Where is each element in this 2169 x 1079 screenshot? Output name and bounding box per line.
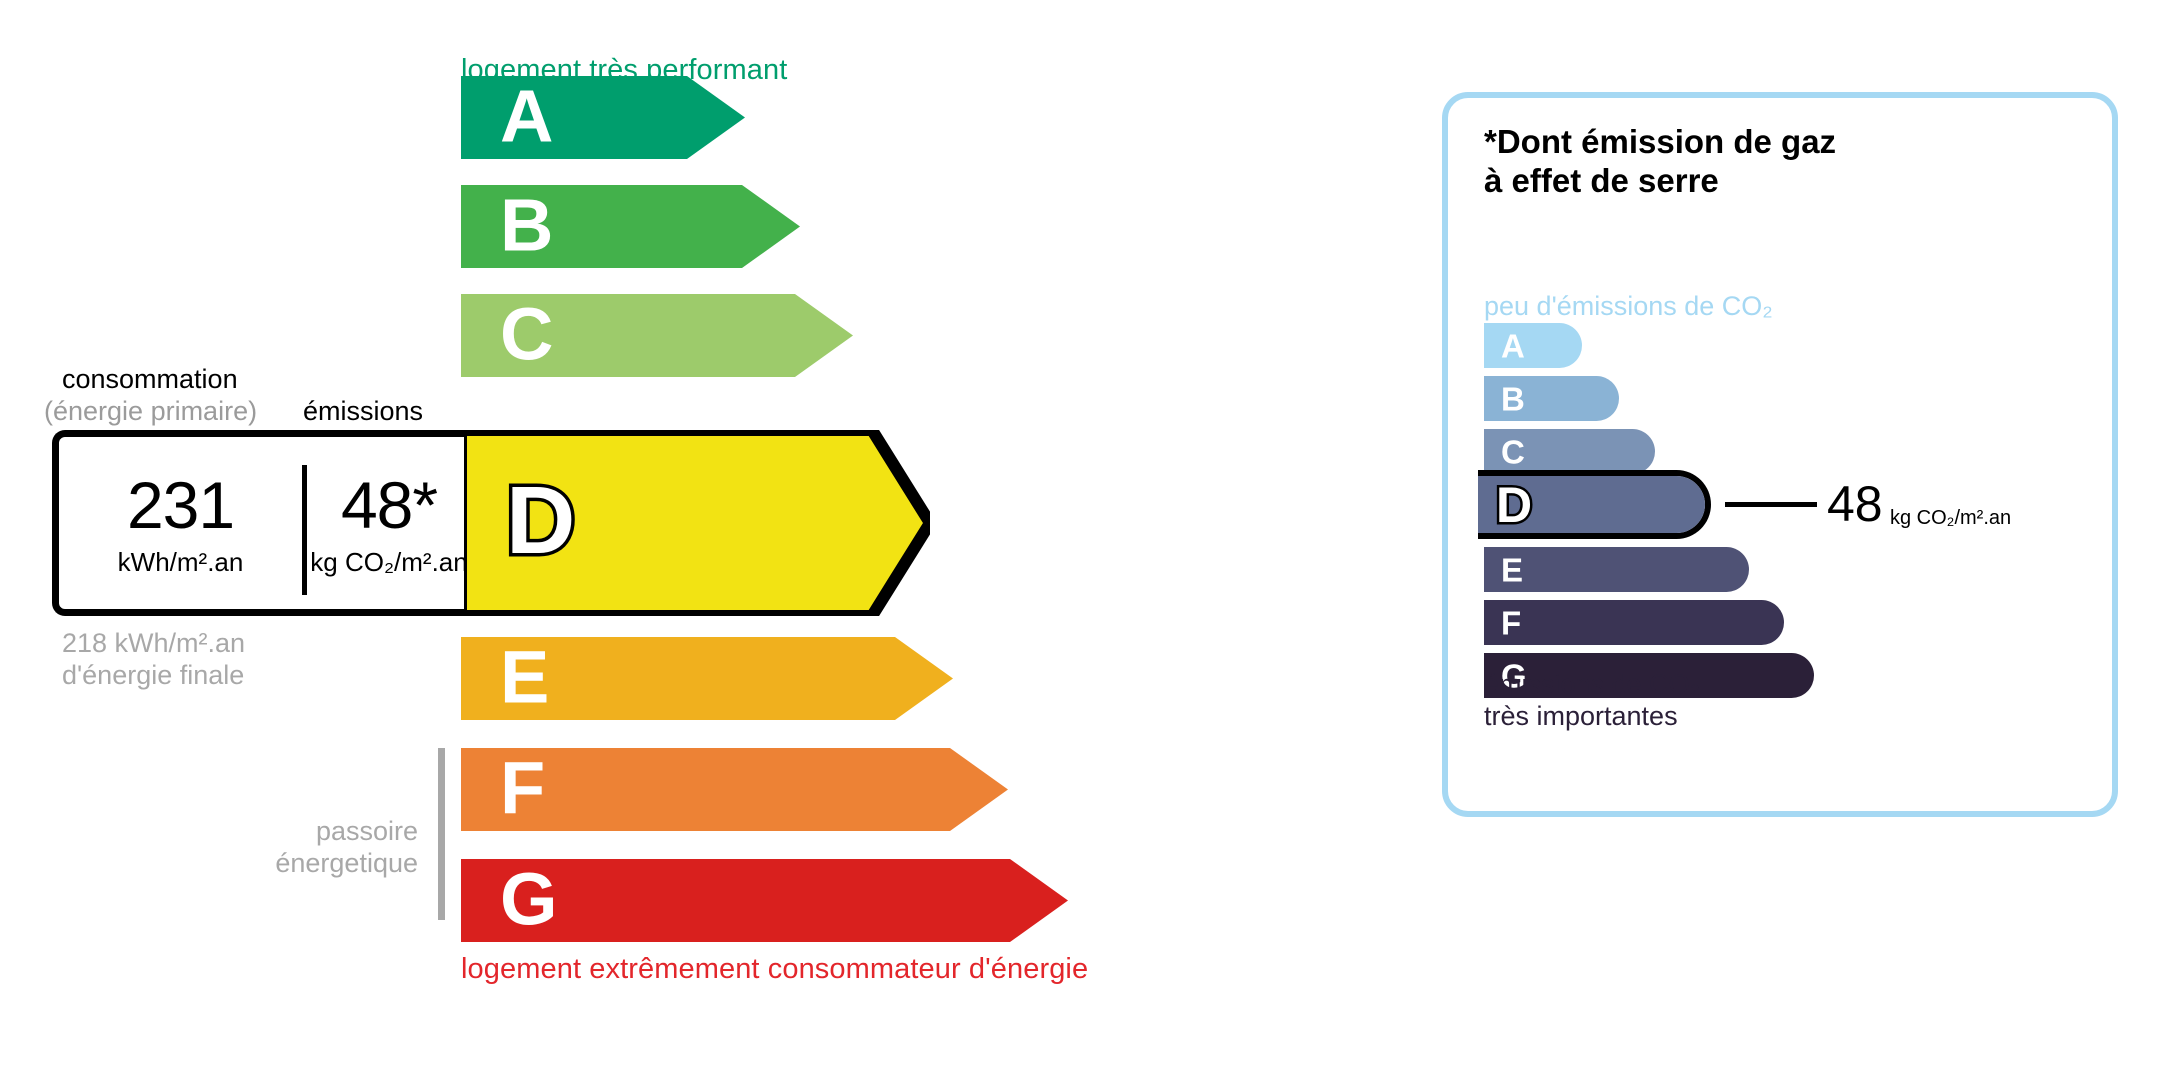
- energy-band-e[interactable]: E: [461, 637, 953, 720]
- emission-value: 48*: [341, 472, 437, 538]
- energy-band-a[interactable]: A: [461, 76, 745, 159]
- energy-band-letter-g: G: [500, 862, 558, 936]
- energy-band-letter-c: C: [500, 297, 553, 371]
- emission-cell: 48* kg CO₂/m².an: [307, 437, 471, 609]
- consumption-cell: 231 kWh/m².an: [59, 437, 302, 609]
- co2-panel: *Dont émission de gaz à effet de serre p…: [1442, 92, 2118, 817]
- energy-band-f[interactable]: F: [461, 748, 1008, 831]
- consommation-label: consommation: [62, 364, 238, 395]
- energie-primaire-label: (énergie primaire): [44, 396, 257, 427]
- energy-band-letter-a: A: [500, 79, 553, 153]
- energy-band-g[interactable]: G: [461, 859, 1068, 942]
- co2-bottom-caption-line2: très importantes: [1484, 701, 1678, 731]
- energy-band-letter-e: E: [500, 640, 549, 714]
- co2-bar-letter-b: B: [1501, 382, 1525, 415]
- co2-bar-b[interactable]: B: [1484, 376, 1619, 421]
- co2-bar-a[interactable]: A: [1484, 323, 1582, 368]
- emission-unit: kg CO₂/m².an: [310, 549, 467, 575]
- co2-bar-e[interactable]: E: [1484, 547, 1749, 592]
- co2-bar-letter-a: A: [1501, 329, 1525, 362]
- co2-callout-unit: kg CO₂/m².an: [1890, 508, 2011, 528]
- energy-bottom-caption: logement extrêmement consommateur d'éner…: [461, 953, 1088, 986]
- co2-bottom-caption-line1: émissions de CO₂: [1484, 669, 1700, 699]
- co2-bar-letter-d: D: [1496, 480, 1532, 530]
- co2-top-caption: peu d'émissions de CO₂: [1484, 291, 1773, 322]
- co2-bar-d-selected[interactable]: D: [1478, 470, 1711, 539]
- co2-callout-leader-line: [1725, 502, 1817, 507]
- co2-callout-value: 48: [1827, 479, 1883, 529]
- energie-finale-text: d'énergie finale: [62, 660, 244, 691]
- passoire-label-line2: énergetique: [262, 848, 418, 879]
- energy-band-letter-f: F: [500, 751, 545, 825]
- co2-bar-letter-c: C: [1501, 435, 1525, 468]
- co2-title-line1: *Dont émission de gaz: [1484, 123, 1836, 160]
- consumption-unit: kWh/m².an: [118, 549, 244, 575]
- dpe-diagram: logement très performant ABCDEFG 231 kWh…: [0, 0, 2169, 1079]
- co2-bar-c[interactable]: C: [1484, 429, 1655, 474]
- co2-bar-letter-f: F: [1501, 606, 1521, 639]
- passoire-label-line1: passoire: [282, 816, 418, 847]
- co2-bottom-caption: émissions de CO₂ très importantes: [1484, 668, 1700, 733]
- value-box: 231 kWh/m².an 48* kg CO₂/m².an: [52, 430, 464, 616]
- co2-bar-letter-e: E: [1501, 553, 1523, 586]
- consumption-value: 231: [127, 472, 234, 538]
- energie-finale-value: 218 kWh/m².an: [62, 628, 245, 659]
- co2-panel-title: *Dont émission de gaz à effet de serre: [1484, 123, 1836, 201]
- energy-performance-panel: logement très performant ABCDEFG 231 kWh…: [0, 0, 1340, 1079]
- passoire-marker-bar: [438, 748, 445, 920]
- energy-band-letter-b: B: [500, 188, 553, 262]
- energy-band-c[interactable]: C: [461, 294, 853, 377]
- value-box-assembly: 231 kWh/m².an 48* kg CO₂/m².an: [52, 430, 952, 616]
- emissions-label: émissions: [303, 396, 423, 427]
- co2-title-line2: à effet de serre: [1484, 162, 1719, 199]
- co2-bar-f[interactable]: F: [1484, 600, 1784, 645]
- energy-band-b[interactable]: B: [461, 185, 800, 268]
